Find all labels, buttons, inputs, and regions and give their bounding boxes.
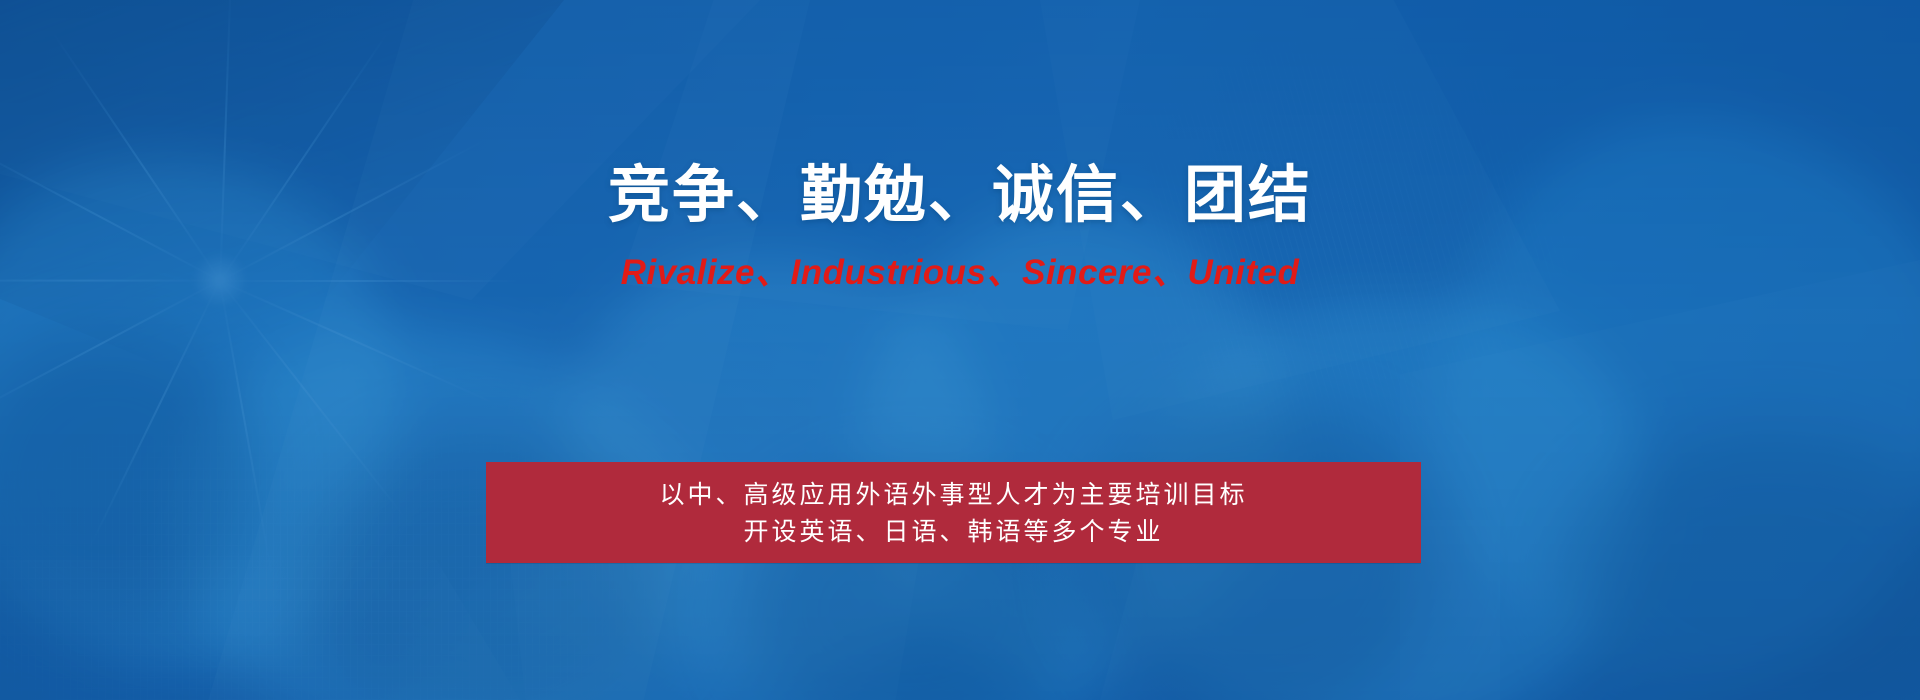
hero-ribbon-banner: 以中、高级应用外语外事型人才为主要培训目标 开设英语、日语、韩语等多个专业 (486, 462, 1421, 563)
hero-subheadline: Rivalize、Industrious、Sincere、United (0, 254, 1920, 293)
ribbon-line-1: 以中、高级应用外语外事型人才为主要培训目标 (659, 478, 1247, 511)
hero-banner: 竞争、勤勉、诚信、团结 Rivalize、Industrious、Sincere… (0, 0, 1920, 700)
hero-content: 竞争、勤勉、诚信、团结 Rivalize、Industrious、Sincere… (0, 0, 1920, 700)
hero-headline: 竞争、勤勉、诚信、团结 (0, 163, 1920, 228)
ribbon-line-2: 开设英语、日语、韩语等多个专业 (743, 515, 1163, 548)
